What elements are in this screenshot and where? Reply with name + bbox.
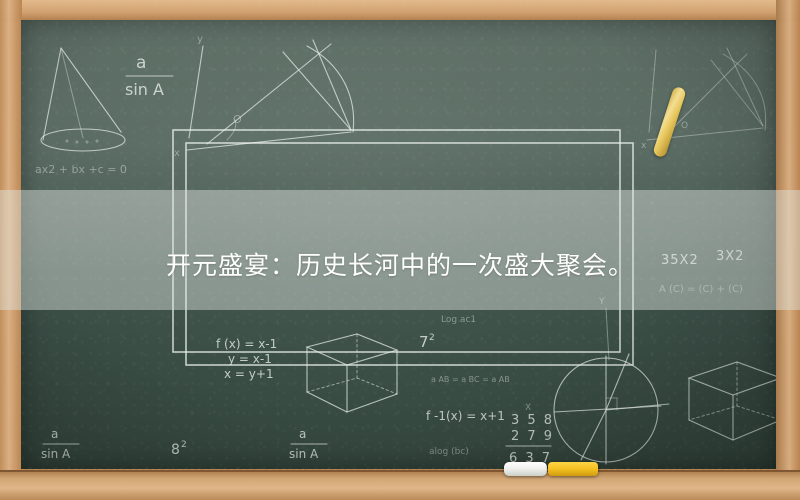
frame-bevel-top: [0, 0, 800, 22]
svg-text:x: x: [641, 141, 647, 151]
chalk-function-equations: f (x) = x-1 y = x-1 x = y+1: [216, 337, 277, 381]
svg-text:O: O: [681, 121, 688, 131]
svg-text:sin A: sin A: [125, 80, 164, 99]
frame-ledge: [0, 470, 800, 500]
chalk-log-expression: alog (bc): [429, 447, 469, 457]
svg-text:2 7 9: 2 7 9: [511, 429, 554, 444]
chalk-small-equation: a AB = a BC = a AB: [431, 375, 510, 384]
chalk-stick-white: [504, 462, 547, 476]
svg-text:a: a: [299, 427, 306, 441]
svg-text:a: a: [136, 53, 146, 73]
chalk-fraction-a-sin-a-topleft: a sin A: [125, 53, 173, 99]
chalk-cone: [41, 48, 125, 151]
chalk-power-eight-exp: 2: [181, 440, 187, 450]
svg-text:O: O: [233, 113, 242, 126]
chalk-axes-angle-topleft: y x O: [174, 34, 354, 159]
chalk-quadratic-equation: ax2 + bx +c = 0: [35, 163, 127, 176]
caption-overlay-band: 开元盛宴：历史长河中的一次盛大聚会。: [0, 190, 800, 310]
caption-title: 开元盛宴：历史长河中的一次盛大聚会。: [166, 246, 634, 282]
svg-text:y: y: [197, 34, 203, 45]
chalk-fraction-a-sin-a-bottom-1: a sin A: [41, 427, 79, 461]
chalk-power-eight: 8: [171, 442, 180, 458]
svg-text:sin A: sin A: [289, 447, 319, 461]
svg-text:x: x: [174, 148, 180, 159]
chalk-power-seven: 7: [419, 333, 429, 351]
svg-text:sin A: sin A: [41, 447, 71, 461]
chalk-stick-yellow: [548, 462, 598, 476]
chalk-power-seven-exp: 2: [429, 333, 435, 343]
chalk-inverse-function: f -1(x) = x+1: [426, 409, 505, 423]
svg-text:X: X: [525, 403, 531, 413]
chalk-cube-right: [689, 362, 776, 440]
frame-ledge-line: [0, 470, 800, 472]
chalk-addition-column: 3 5 8 2 7 9 6 3 7: [506, 413, 554, 466]
svg-text:a: a: [51, 427, 58, 441]
svg-text:x = y+1: x = y+1: [224, 367, 274, 381]
chalk-cube-left: [307, 334, 397, 412]
svg-text:y = x-1: y = x-1: [228, 352, 272, 366]
svg-text:3 5 8: 3 5 8: [511, 413, 554, 428]
svg-text:f (x) = x-1: f (x) = x-1: [216, 337, 277, 351]
chalk-log-ac1: Log ac1: [441, 315, 476, 325]
chalk-fraction-a-sin-a-bottom-2: a sin A: [289, 427, 327, 461]
chalkboard-image: a sin A y x O ax2 + bx +c =: [0, 0, 800, 500]
